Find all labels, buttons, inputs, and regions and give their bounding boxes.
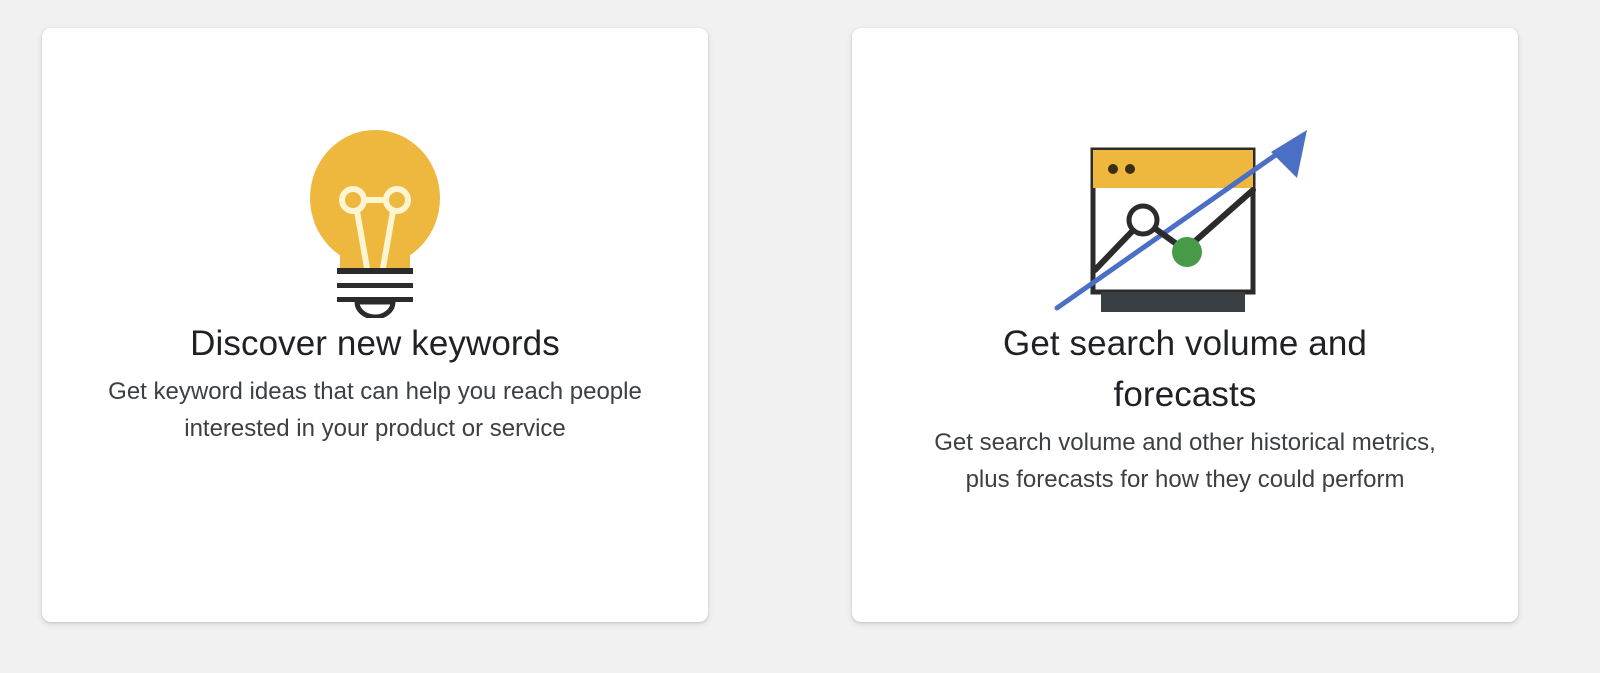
lightbulb-icon (295, 118, 455, 318)
card-text-block: Discover new keywords Get keyword ideas … (42, 318, 708, 447)
search-volume-chart-icon-wrapper (852, 28, 1518, 318)
card-get-search-volume-and-forecasts[interactable]: Get search volume and forecasts Get sear… (852, 28, 1518, 622)
card-title: Get search volume and forecasts (880, 318, 1490, 420)
cards-container: Discover new keywords Get keyword ideas … (0, 0, 1600, 673)
lightbulb-icon-wrapper (42, 28, 708, 318)
card-title: Discover new keywords (70, 318, 680, 369)
card-description: Get keyword ideas that can help you reac… (70, 373, 680, 447)
search-volume-chart-icon (1045, 118, 1325, 318)
card-description: Get search volume and other historical m… (880, 424, 1490, 498)
card-discover-new-keywords[interactable]: Discover new keywords Get keyword ideas … (42, 28, 708, 622)
card-text-block: Get search volume and forecasts Get sear… (852, 318, 1518, 498)
